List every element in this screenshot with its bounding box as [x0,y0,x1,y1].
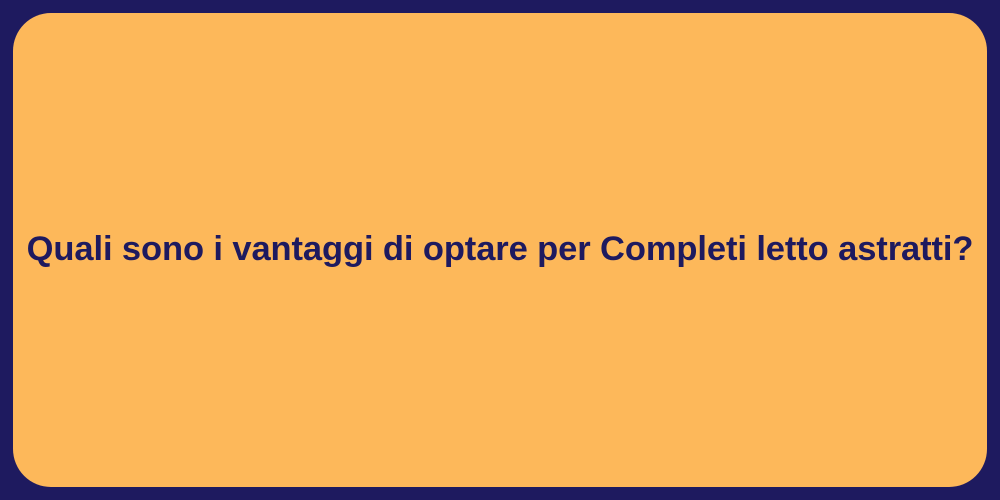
card-panel: Quali sono i vantaggi di optare per Comp… [13,13,987,487]
question-heading: Quali sono i vantaggi di optare per Comp… [27,228,974,271]
question-card: Quali sono i vantaggi di optare per Comp… [0,0,1000,500]
